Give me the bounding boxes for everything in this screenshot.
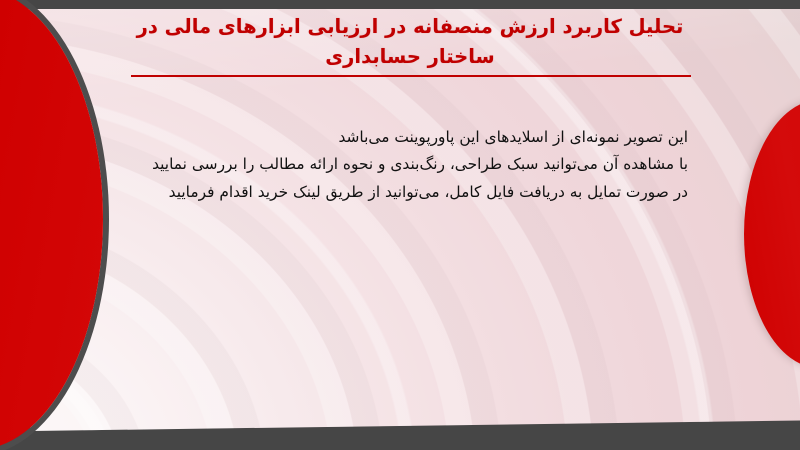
slide-content-panel: [0, 9, 800, 431]
slide-body-text: این تصویر نمونه‌ای از اسلایدهای این پاور…: [140, 124, 688, 206]
background-sheen: [0, 9, 800, 431]
presentation-slide: تحلیل کاربرد ارزش منصفانه در ارزیابی ابز…: [0, 0, 800, 450]
slide-title-line-1: تحلیل کاربرد ارزش منصفانه در ارزیابی ابز…: [120, 12, 700, 42]
slide-title-line-2: ساختار حسابداری: [120, 42, 700, 72]
body-line-2: با مشاهده آن می‌توانید سبک طراحی، رنگ‌بن…: [140, 151, 688, 178]
body-line-1: این تصویر نمونه‌ای از اسلایدهای این پاور…: [140, 124, 688, 151]
body-line-3: در صورت تمایل به دریافت فایل کامل، می‌تو…: [140, 179, 688, 206]
title-divider-rule: [131, 75, 691, 77]
slide-title: تحلیل کاربرد ارزش منصفانه در ارزیابی ابز…: [120, 12, 700, 71]
